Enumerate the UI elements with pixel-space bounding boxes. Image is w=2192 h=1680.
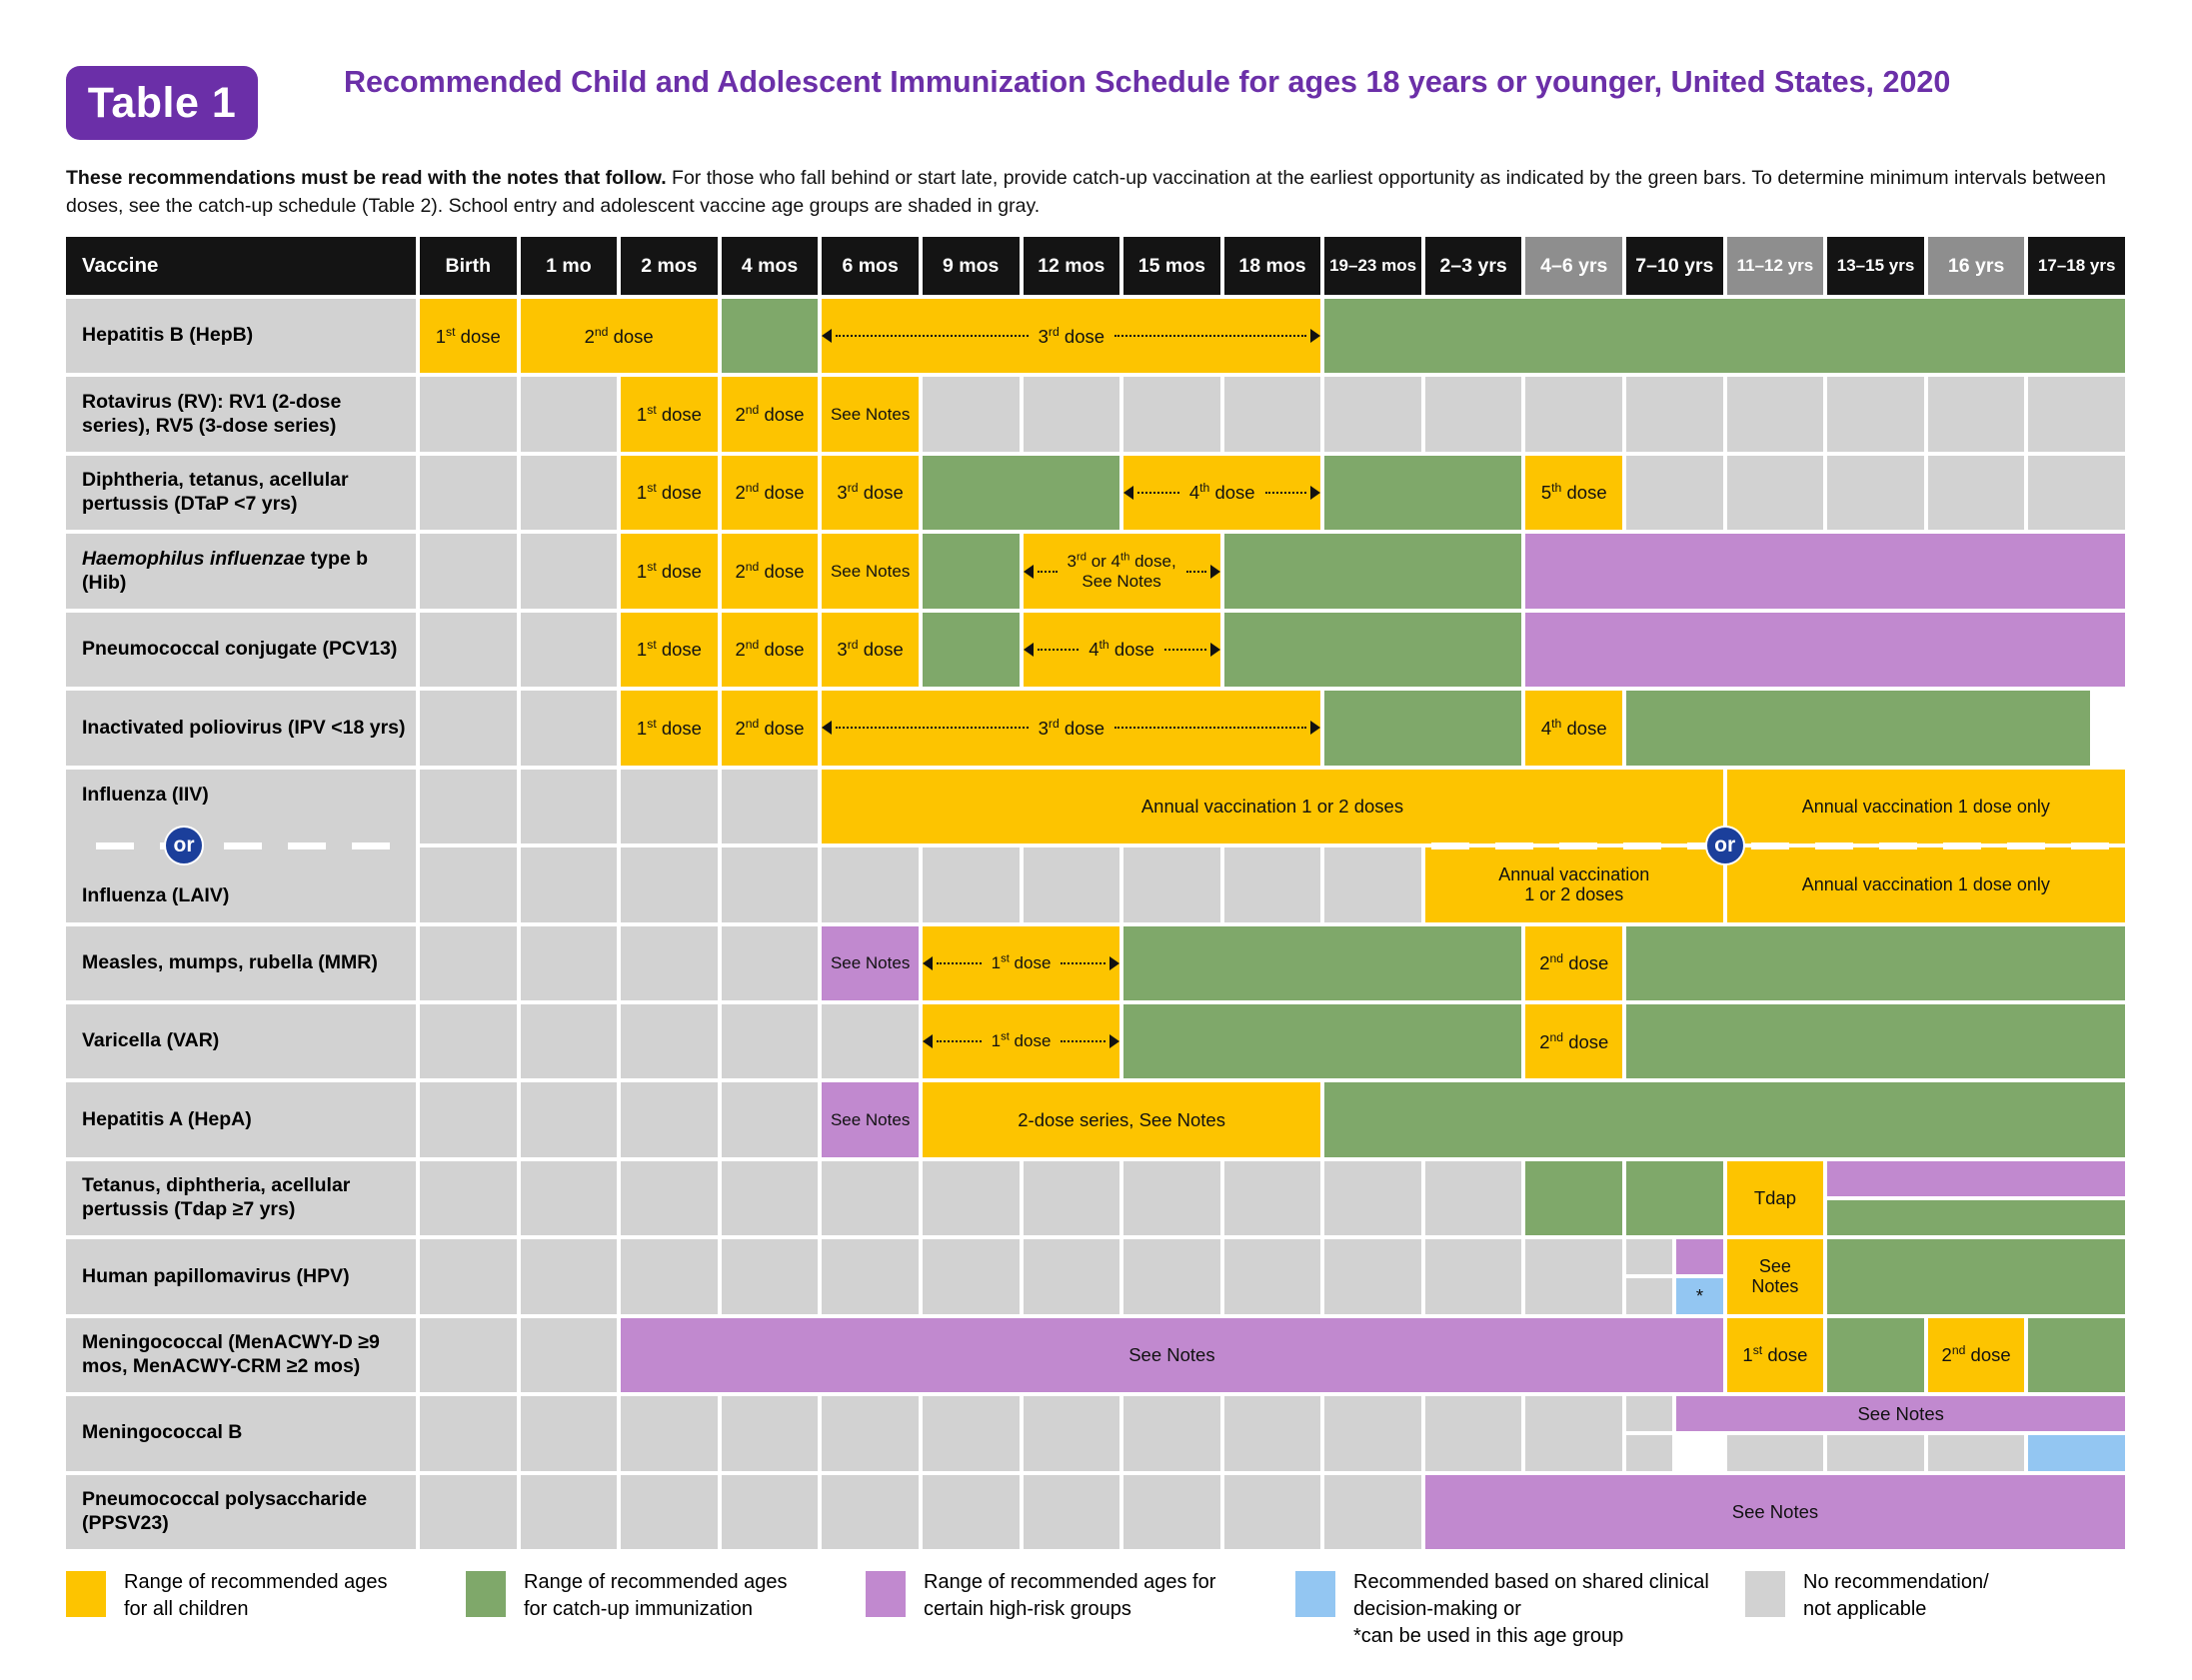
cell-hpv-empty [722, 1239, 819, 1313]
cell-tdap-empty [420, 1161, 517, 1235]
cell-hpv-empty [621, 1239, 718, 1313]
cell-dtap: 2nd dose [722, 456, 819, 530]
cell-hib-empty [420, 534, 517, 608]
column-header-4-6-yrs: 4–6 yrs [1525, 237, 1622, 295]
legend-label: Recommended based on shared clinical dec… [1353, 1569, 1709, 1649]
arrow-dash-right [1114, 727, 1306, 729]
cell-hepa-empty [722, 1082, 819, 1156]
cell-rv-empty [1626, 377, 1723, 451]
legend-swatch [466, 1571, 506, 1617]
or-dash-segment [2071, 842, 2109, 849]
cell-var [1123, 1004, 1521, 1078]
cell-rv-empty [521, 377, 618, 451]
column-header-birth: Birth [420, 237, 517, 295]
arrow-label: 1st dose [986, 1031, 1058, 1051]
cell-hepb [1324, 299, 2125, 373]
cell-iiv-empty [621, 770, 718, 843]
cell-pcv13: 3rd dose [822, 613, 919, 687]
arrow-right-icon [1109, 956, 1119, 970]
row-label-iiv-text: Influenza (IIV) [82, 784, 209, 808]
cell-ppsv23-empty [1224, 1475, 1321, 1549]
or-dash-segment [224, 842, 262, 849]
arrow-left-icon [1123, 486, 1133, 500]
cell-text: See Notes [831, 1110, 910, 1130]
cell-hpv-empty [1324, 1239, 1421, 1313]
cell-pcv13: 1st dose [621, 613, 718, 687]
cell-text: 2nd dose [1942, 1344, 2011, 1365]
legend-swatch [1745, 1571, 1785, 1617]
legend-item-0: Range of recommended ages for all childr… [66, 1569, 388, 1623]
cell-dtap-empty [420, 456, 517, 530]
cell-hpv-empty [521, 1239, 618, 1313]
cell-hepa: 2-dose series, See Notes [923, 1082, 1320, 1156]
dose-range-arrow: 3rd dose [822, 326, 1320, 347]
cell-tdap-empty [1224, 1161, 1321, 1235]
cell-rv-empty [2028, 377, 2125, 451]
cell-text: 1st dose [637, 718, 702, 739]
cell-mmr-empty [722, 926, 819, 1000]
column-header-7-10-yrs: 7–10 yrs [1626, 237, 1723, 295]
cell-hepa-empty [621, 1082, 718, 1156]
cell-hepa [1324, 1082, 2125, 1156]
cell-menb-shared-decision [2028, 1435, 2125, 1470]
cell-hib: 2nd dose [722, 534, 819, 608]
arrow-dash-left [937, 962, 982, 964]
cell-ipv [1626, 691, 2090, 765]
cell-text: 2nd dose [735, 404, 804, 425]
cell-laiv-empty [521, 847, 618, 921]
arrow-left-icon [822, 721, 832, 735]
cell-hepb [722, 299, 819, 373]
cell-ppsv23-empty [1024, 1475, 1120, 1549]
cell-rv-empty [1425, 377, 1522, 451]
cell-tdap [1525, 1161, 1622, 1235]
cell-hepb: 3rd dose [822, 299, 1320, 373]
column-header-16-yrs: 16 yrs [1928, 237, 2025, 295]
or-badge-left: or [164, 826, 204, 865]
arrow-dash-right [1061, 962, 1105, 964]
cell-tdap-empty [1024, 1161, 1120, 1235]
cell-rv: See Notes [822, 377, 919, 451]
row-label-menb: Meningococcal B [66, 1396, 416, 1470]
or-dash-segment [2007, 842, 2045, 849]
cell-text: 3rd dose [837, 639, 903, 660]
cell-text: 1st dose [637, 561, 702, 582]
cell-menacwy-empty [420, 1318, 517, 1392]
cell-pcv13: 4th dose [1024, 613, 1220, 687]
column-header-vaccine: Vaccine [66, 237, 416, 295]
intro-bold: These recommendations must be read with … [66, 167, 667, 189]
cell-dtap [923, 456, 1119, 530]
column-header-2-mos: 2 mos [621, 237, 718, 295]
cell-hpv [1827, 1239, 2125, 1313]
arrow-dash-left [836, 335, 1028, 337]
cell-hpv-empty [822, 1239, 919, 1313]
or-dash-segment [1559, 842, 1597, 849]
cell-mmr: 1st dose [923, 926, 1119, 1000]
cell-menacwy: 2nd dose [1928, 1318, 2025, 1392]
cell-pcv13 [923, 613, 1020, 687]
cell-rv: 1st dose [621, 377, 718, 451]
cell-menb [722, 1396, 819, 1470]
cell-iiv: Annual vaccination 1 dose only [1727, 770, 2125, 843]
cell-text: See Notes [1857, 1403, 1943, 1424]
arrow-label: 4th dose [1183, 482, 1261, 503]
cell-rv-empty [1727, 377, 1824, 451]
cell-pcv13: 2nd dose [722, 613, 819, 687]
cell-pcv13-empty [521, 613, 618, 687]
cell-iiv-empty [420, 770, 517, 843]
cell-ipv: 3rd dose [822, 691, 1320, 765]
cell-mmr-empty [621, 926, 718, 1000]
row-label-ppsv23: Pneumococcal polysaccharide (PPSV23) [66, 1475, 416, 1549]
legend-item-1: Range of recommended ages for catch-up i… [466, 1569, 788, 1623]
legend-label: Range of recommended ages for all childr… [124, 1569, 388, 1623]
cell-mmr [1123, 926, 1521, 1000]
arrow-label: 3rd dose [1033, 326, 1110, 347]
arrow-left-icon [923, 956, 933, 970]
cell-menb [923, 1396, 1020, 1470]
arrow-dash-right [1186, 571, 1206, 573]
cell-pcv13 [1525, 613, 2125, 687]
cell-dtap: 3rd dose [822, 456, 919, 530]
dose-range-arrow: 3rd dose [822, 718, 1320, 739]
cell-rv-empty [1928, 377, 2025, 451]
or-dash-segment [1751, 842, 1789, 849]
cell-ppsv23: See Notes [1425, 1475, 2125, 1549]
cell-hib [1525, 534, 2125, 608]
title-bar: Table 1 Recommended Child and Adolescent… [66, 66, 2125, 146]
cell-text: Annual vaccination1 or 2 doses [1498, 864, 1649, 905]
cell-iiv-empty [722, 770, 819, 843]
cell-hpv: SeeNotes [1727, 1239, 1824, 1313]
cell-dtap: 4th dose [1123, 456, 1320, 530]
cell-text: 1st dose [637, 404, 702, 425]
arrow-left-icon [1024, 565, 1034, 579]
cell-laiv [1224, 847, 1321, 921]
or-divider-left [96, 842, 416, 849]
or-dash-segment [1815, 842, 1853, 849]
cell-text: Annual vaccination 1 dose only [1802, 797, 2050, 818]
cell-var-empty [521, 1004, 618, 1078]
cell-hib: 3rd or 4th dose,See Notes [1024, 534, 1220, 608]
legend-swatch [66, 1571, 106, 1617]
row-label-hepa: Hepatitis A (HepA) [66, 1082, 416, 1156]
arrow-right-icon [1310, 486, 1320, 500]
cell-ipv [1324, 691, 1521, 765]
cell-menb [1425, 1396, 1522, 1470]
cell-menb [1324, 1396, 1421, 1470]
cell-text: SeeNotes [1751, 1256, 1798, 1297]
cell-mmr: See Notes [822, 926, 919, 1000]
arrow-label: 3rd dose [1033, 718, 1110, 739]
column-header-13-15-yrs: 13–15 yrs [1827, 237, 1924, 295]
cell-hpv-empty [1024, 1239, 1120, 1313]
cell-hepa-empty [521, 1082, 618, 1156]
cell-iiv-empty [521, 770, 618, 843]
cell-tdap-empty [822, 1161, 919, 1235]
cell-tdap [1626, 1161, 1723, 1235]
cell-dtap-empty [1827, 456, 1924, 530]
cell-laiv [1123, 847, 1220, 921]
cell-text: 2nd dose [735, 718, 804, 739]
cell-rv-empty [420, 377, 517, 451]
dose-range-arrow: 4th dose [1024, 639, 1220, 660]
cell-dtap-empty [2028, 456, 2125, 530]
cell-tdap-empty [722, 1161, 819, 1235]
row-label-rv: Rotavirus (RV): RV1 (2-dose series), RV5… [66, 377, 416, 451]
arrow-left-icon [923, 1034, 933, 1048]
cell-laiv [822, 847, 919, 921]
or-dash-segment [1943, 842, 1981, 849]
cell-rv-empty [1827, 377, 1924, 451]
cell-menb-11to12 [1727, 1435, 1824, 1470]
legend-item-4: No recommendation/ not applicable [1745, 1569, 1989, 1623]
arrow-right-icon [1210, 643, 1220, 657]
page-title: Recommended Child and Adolescent Immuniz… [344, 62, 2123, 103]
schedule-grid: VaccineBirth1 mo2 mos4 mos6 mos9 mos12 m… [66, 237, 2129, 1553]
cell-text: Annual vaccination 1 or 2 doses [1141, 796, 1403, 817]
cell-text: 2nd dose [735, 639, 804, 660]
cell-dtap-empty [1727, 456, 1824, 530]
cell-text: 2nd dose [1539, 1031, 1608, 1052]
cell-menb-7to10-top [1626, 1396, 1672, 1431]
arrow-dash-left [836, 727, 1028, 729]
cell-hpv-empty [1123, 1239, 1220, 1313]
cell-menb-13to15 [1827, 1435, 1924, 1470]
cell-text: Annual vaccination 1 dose only [1802, 874, 2050, 895]
cell-tdap-empty [1425, 1161, 1522, 1235]
row-label-pcv13: Pneumococcal conjugate (PCV13) [66, 613, 416, 687]
row-label-var: Varicella (VAR) [66, 1004, 416, 1078]
legend-item-3: Recommended based on shared clinical dec… [1295, 1569, 1709, 1649]
column-header-9-mos: 9 mos [923, 237, 1020, 295]
cell-text: See Notes [831, 405, 910, 425]
row-label-tdap: Tetanus, diphtheria, acellular pertussis… [66, 1161, 416, 1235]
cell-mmr: 2nd dose [1525, 926, 1622, 1000]
cell-laiv [1324, 847, 1421, 921]
row-label-hib: Haemophilus influenzae type b (Hib) [66, 534, 416, 608]
cell-text: 1st dose [637, 482, 702, 503]
cell-hib-empty [521, 534, 618, 608]
arrow-right-icon [1210, 565, 1220, 579]
arrow-dash-right [1265, 492, 1307, 494]
cell-hpv-7to10-bottom [1626, 1278, 1672, 1313]
intro-paragraph: These recommendations must be read with … [66, 165, 2135, 220]
or-dash-segment [1431, 842, 1469, 849]
cell-text: 1st dose [436, 326, 501, 347]
arrow-right-icon [1109, 1034, 1119, 1048]
arrow-dash-left [1038, 571, 1058, 573]
arrow-dash-left [937, 1040, 982, 1042]
cell-menb [521, 1396, 618, 1470]
cell-hpv-7to10-top [1626, 1239, 1672, 1274]
cell-text: 3rd dose [837, 482, 903, 503]
column-header-18-mos: 18 mos [1224, 237, 1321, 295]
cell-menb [1525, 1396, 1622, 1470]
immunization-schedule-page: Table 1 Recommended Child and Adolescent… [0, 0, 2192, 1680]
row-label-ipv: Inactivated poliovirus (IPV <18 yrs) [66, 691, 416, 765]
cell-menacwy [2028, 1318, 2125, 1392]
cell-mmr-empty [420, 926, 517, 1000]
cell-menb [822, 1396, 919, 1470]
cell-ppsv23-empty [521, 1475, 618, 1549]
cell-hpv-empty [1224, 1239, 1321, 1313]
cell-ppsv23-empty [1324, 1475, 1421, 1549]
cell-tdap-empty [621, 1161, 718, 1235]
cell-ipv-empty [521, 691, 618, 765]
cell-hpv-highrisk [1676, 1239, 1722, 1274]
arrow-dash-left [1137, 492, 1179, 494]
cell-text: 5th dose [1541, 482, 1607, 503]
cell-menb [621, 1396, 718, 1470]
cell-tdap: Tdap [1727, 1161, 1824, 1235]
cell-pcv13 [1224, 613, 1522, 687]
cell-hib [923, 534, 1020, 608]
cell-rv-empty [1224, 377, 1321, 451]
cell-var-empty [420, 1004, 517, 1078]
legend-item-2: Range of recommended ages for certain hi… [866, 1569, 1215, 1623]
row-label-mmr: Measles, mumps, rubella (MMR) [66, 926, 416, 1000]
dose-range-arrow: 1st dose [923, 1031, 1119, 1051]
cell-menb-highrisk: See Notes [1676, 1396, 2125, 1431]
cell-laiv-empty [722, 847, 819, 921]
cell-laiv [923, 847, 1020, 921]
cell-text: 4th dose [1541, 718, 1607, 739]
cell-menacwy: 1st dose [1727, 1318, 1824, 1392]
cell-text: See Notes [831, 953, 910, 973]
arrow-dash-right [1164, 649, 1206, 651]
cell-menacwy-empty [521, 1318, 618, 1392]
cell-ipv-empty [420, 691, 517, 765]
cell-mmr-empty [521, 926, 618, 1000]
column-header-19-23-mos: 19–23 mos [1324, 237, 1421, 295]
row-label-laiv-text: Influenza (LAIV) [82, 884, 229, 908]
cell-menb [1024, 1396, 1120, 1470]
column-header-6-mos: 6 mos [822, 237, 919, 295]
arrow-left-icon [1024, 643, 1034, 657]
column-header-17-18-yrs: 17–18 yrs [2028, 237, 2125, 295]
cell-var [1626, 1004, 2125, 1078]
cell-menb [1123, 1396, 1220, 1470]
cell-ppsv23-empty [621, 1475, 718, 1549]
cell-hepb: 2nd dose [521, 299, 718, 373]
dose-range-arrow: 1st dose [923, 953, 1119, 973]
dose-range-arrow: 3rd or 4th dose,See Notes [1024, 552, 1220, 591]
cell-ppsv23-empty [822, 1475, 919, 1549]
cell-text: 1st dose [1742, 1344, 1807, 1365]
cell-rv-empty [1324, 377, 1421, 451]
cell-menb-7to10-bottom [1626, 1435, 1672, 1470]
cell-text: * [1696, 1285, 1703, 1306]
cell-menb [1224, 1396, 1321, 1470]
column-header-1-mo: 1 mo [521, 237, 618, 295]
cell-text: 2nd dose [1539, 952, 1608, 973]
cell-hepb: 1st dose [420, 299, 517, 373]
cell-hpv-empty [420, 1239, 517, 1313]
arrow-right-icon [1310, 721, 1320, 735]
cell-rv-empty [923, 377, 1020, 451]
or-dash-segment [1879, 842, 1917, 849]
cell-hepa: See Notes [822, 1082, 919, 1156]
row-label-hepb: Hepatitis B (HepB) [66, 299, 416, 373]
cell-dtap-empty [1928, 456, 2025, 530]
cell-laiv-empty [621, 847, 718, 921]
arrow-left-icon [822, 329, 832, 343]
cell-hpv-shared-decision: * [1676, 1278, 1722, 1313]
cell-text: 2nd dose [735, 482, 804, 503]
cell-hepa-empty [420, 1082, 517, 1156]
cell-menb [420, 1396, 517, 1470]
cell-hpv-empty [1425, 1239, 1522, 1313]
cell-laiv: Annual vaccination 1 dose only [1727, 847, 2125, 921]
column-header-11-12-yrs: 11–12 yrs [1727, 237, 1824, 295]
arrow-right-icon [1310, 329, 1320, 343]
cell-text: Tdap [1754, 1187, 1796, 1208]
arrow-dash-left [1038, 649, 1080, 651]
cell-laiv: Annual vaccination1 or 2 doses [1425, 847, 1723, 921]
cell-dtap-empty [521, 456, 618, 530]
arrow-dash-right [1061, 1040, 1105, 1042]
legend: Range of recommended ages for all childr… [66, 1569, 2135, 1659]
cell-dtap-empty [1626, 456, 1723, 530]
cell-hib [1224, 534, 1522, 608]
cell-ppsv23-empty [722, 1475, 819, 1549]
legend-label: Range of recommended ages for certain hi… [924, 1569, 1215, 1623]
cell-text: 1st dose [637, 639, 702, 660]
cell-menb-16 [1928, 1435, 2025, 1470]
cell-var-empty [822, 1004, 919, 1078]
cell-menacwy [1827, 1318, 1924, 1392]
cell-text: 2-dose series, See Notes [1018, 1109, 1225, 1130]
cell-hpv-empty [923, 1239, 1020, 1313]
row-label-hib-genus: Haemophilus influenzae [82, 548, 305, 570]
cell-dtap [1324, 456, 1521, 530]
cell-ipv: 4th dose [1525, 691, 1622, 765]
cell-tdap-catchup [1827, 1200, 2125, 1235]
cell-hpv-empty [1525, 1239, 1622, 1313]
or-dash-segment [352, 842, 390, 849]
cell-ipv: 1st dose [621, 691, 718, 765]
or-dash-segment [1623, 842, 1661, 849]
cell-laiv [1024, 847, 1120, 921]
legend-label: No recommendation/ not applicable [1803, 1569, 1989, 1623]
cell-var: 1st dose [923, 1004, 1119, 1078]
cell-laiv-empty [420, 847, 517, 921]
or-dash-segment [96, 842, 134, 849]
legend-label: Range of recommended ages for catch-up i… [524, 1569, 788, 1623]
cell-dtap: 1st dose [621, 456, 718, 530]
column-header-15-mos: 15 mos [1123, 237, 1220, 295]
or-dash-segment [1495, 842, 1533, 849]
cell-rv: 2nd dose [722, 377, 819, 451]
cell-tdap-empty [521, 1161, 618, 1235]
cell-ppsv23-empty [1123, 1475, 1220, 1549]
or-badge-right: or [1705, 826, 1745, 865]
legend-swatch [866, 1571, 906, 1617]
cell-text: See Notes [831, 562, 910, 582]
cell-tdap-empty [1324, 1161, 1421, 1235]
cell-text: See Notes [1732, 1501, 1818, 1522]
cell-dtap: 5th dose [1525, 456, 1622, 530]
cell-tdap-empty [1123, 1161, 1220, 1235]
cell-hib: See Notes [822, 534, 919, 608]
cell-text: See Notes [1128, 1344, 1214, 1365]
dose-range-arrow: 4th dose [1123, 482, 1320, 503]
cell-text: 2nd dose [735, 561, 804, 582]
legend-swatch [1295, 1571, 1335, 1617]
cell-ppsv23-empty [923, 1475, 1020, 1549]
